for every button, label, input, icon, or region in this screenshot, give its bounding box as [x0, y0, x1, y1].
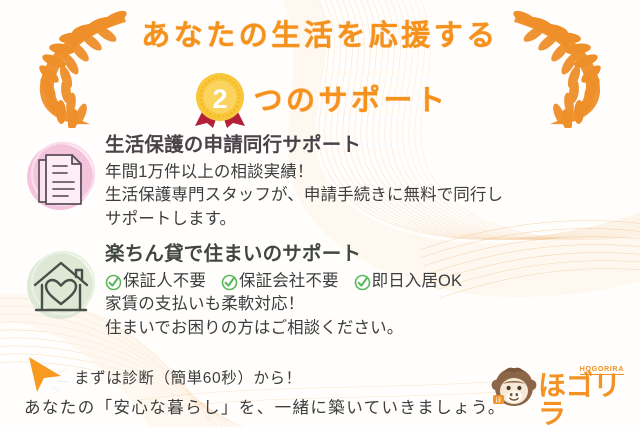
feature-title: 生活保護の申請同行サポート [105, 134, 640, 157]
check-circle-icon [354, 274, 371, 291]
feature-check-row: 保証人不要 保証会社不要 [105, 270, 640, 293]
feature-line: 家賃の支払いも柔軟対応！ [105, 293, 640, 316]
check-item: 即日入居OK [354, 270, 462, 293]
check-label: 保証会社不要 [239, 270, 339, 293]
house-heart-icon [22, 247, 100, 325]
support-banner: あなたの生活を応援する 2 つのサポート [0, 0, 640, 427]
check-item: 保証会社不要 [221, 270, 339, 293]
medal-badge-icon: 2 [191, 70, 249, 128]
logo-japanese-text: ほゴリラ [538, 372, 626, 427]
banner-footer: まずは診断（簡単60秒）から！ あなたの「安心な暮らし」を、一緒に築いていきまし… [0, 352, 640, 427]
logo-wordmark: HOGORIRA ほゴリラ [538, 364, 626, 410]
feature-block-welfare-application: 生活保護の申請同行サポート 年間1万件以上の相談実績！ 生活保護専門スタッフが、… [0, 134, 640, 231]
feature-line: 年間1万件以上の相談実績！ [105, 161, 640, 184]
banner-header: あなたの生活を応援する 2 つのサポート [0, 0, 640, 128]
footer-cta-line: まずは診断（簡単60秒）から！ [74, 366, 302, 388]
headline-secondary-row: 2 つのサポート [0, 70, 640, 128]
svg-text:ほ: ほ [495, 396, 502, 404]
feature-title: 楽ちん貸で住まいのサポート [105, 243, 640, 266]
headline-primary: あなたの生活を応援する [0, 22, 640, 51]
feature-icon-wrap [0, 134, 105, 231]
feature-line: 生活保護専門スタッフが、申請手続きに無料で同行し [105, 184, 640, 207]
check-label: 即日入居OK [372, 270, 462, 293]
click-cursor-icon [20, 354, 74, 394]
gorilla-mascot-icon: ほ [490, 363, 538, 411]
feature-line: サポートします。 [105, 208, 640, 231]
check-label: 保証人不要 [123, 270, 206, 293]
feature-body: 生活保護の申請同行サポート 年間1万件以上の相談実績！ 生活保護専門スタッフが、… [105, 134, 640, 231]
feature-line: 住まいでお困りの方はご相談ください。 [105, 317, 640, 340]
footer-message-line: あなたの「安心な暮らし」を、一緒に築いていきましょう。 [24, 394, 506, 418]
feature-body: 楽ちん貸で住まいのサポート 保証人不要 [105, 243, 640, 340]
check-item: 保証人不要 [105, 270, 206, 293]
brand-logo[interactable]: ほ HOGORIRA ほゴリラ [490, 358, 630, 416]
medal-number: 2 [213, 84, 228, 114]
headline-secondary-text: つのサポート [253, 87, 448, 116]
feature-icon-wrap [0, 243, 105, 340]
document-stack-icon [22, 138, 100, 216]
check-circle-icon [221, 274, 238, 291]
check-circle-icon [105, 274, 122, 291]
feature-block-housing-support: 楽ちん貸で住まいのサポート 保証人不要 [0, 243, 640, 340]
